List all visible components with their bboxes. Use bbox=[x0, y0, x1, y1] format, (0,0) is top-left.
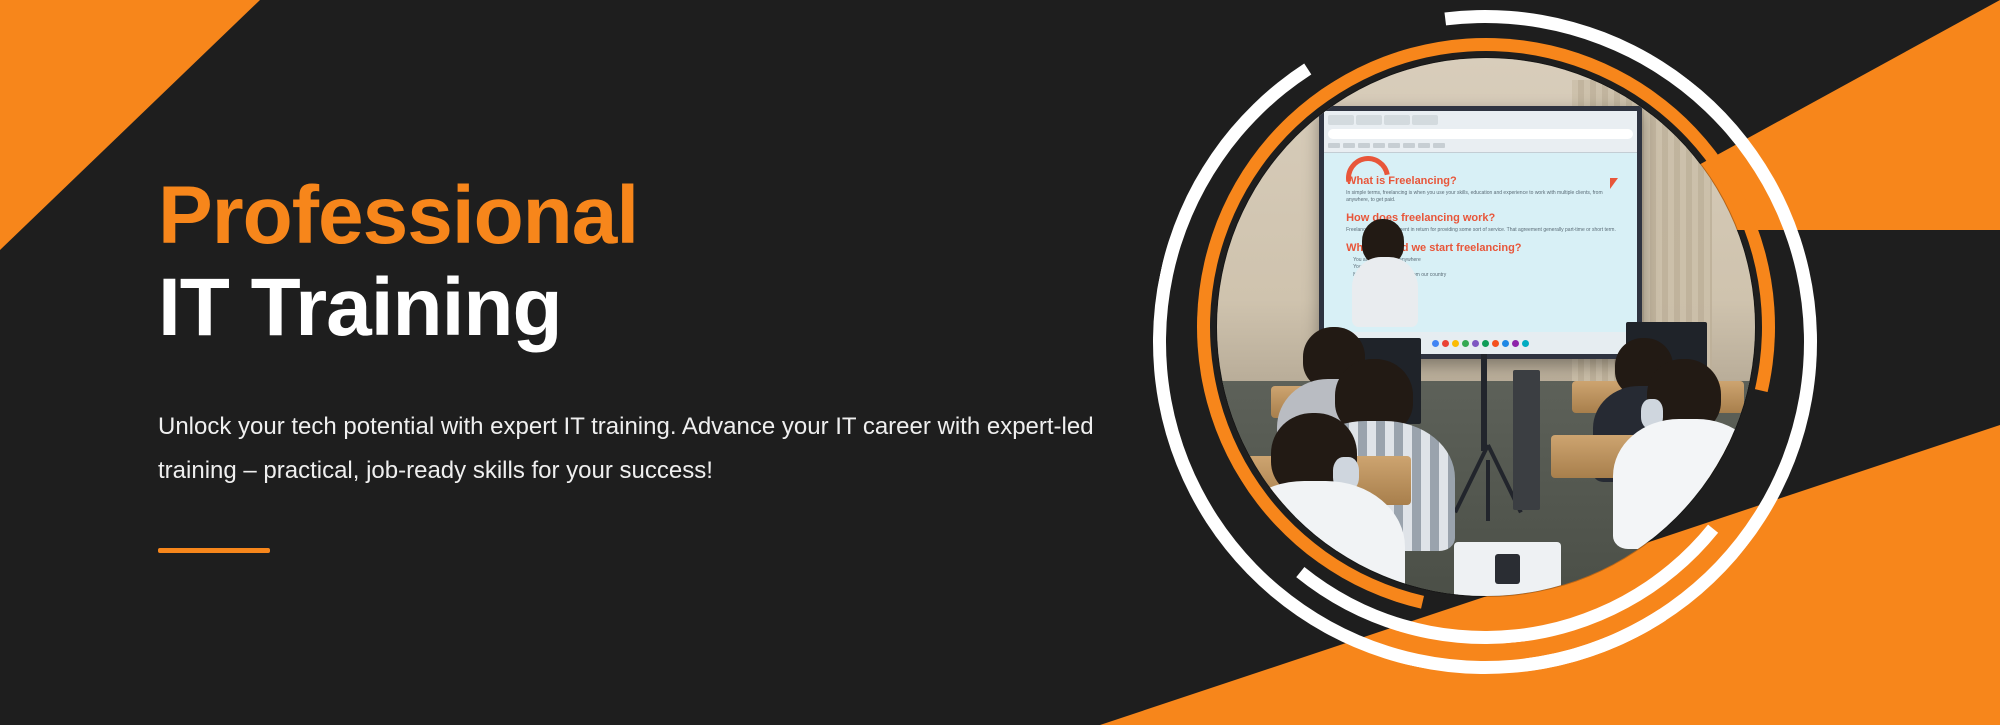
browser-tab bbox=[1328, 115, 1354, 125]
person-body bbox=[1352, 257, 1418, 327]
taskbar-app-icon bbox=[1522, 340, 1529, 347]
bookmark-icon bbox=[1418, 143, 1430, 148]
browser-chrome bbox=[1324, 111, 1637, 152]
taskbar-app-icon bbox=[1502, 340, 1509, 347]
headline-line-2: IT Training bbox=[158, 267, 1158, 349]
bookmark-icon bbox=[1328, 143, 1340, 148]
classroom-photo: What is Freelancing? In simple terms, fr… bbox=[1217, 58, 1755, 596]
it-training-hero-banner: Professional IT Training Unlock your tec… bbox=[0, 0, 2000, 725]
browser-tabs bbox=[1328, 113, 1633, 127]
bookmark-icon bbox=[1373, 143, 1385, 148]
bookmark-icon bbox=[1388, 143, 1400, 148]
taskbar-app-icon bbox=[1462, 340, 1469, 347]
browser-tab bbox=[1384, 115, 1410, 125]
classroom-scene: What is Freelancing? In simple terms, fr… bbox=[1217, 58, 1755, 596]
taskbar-app-icon bbox=[1452, 340, 1459, 347]
slide-body-1: In simple terms, freelancing is when you… bbox=[1346, 190, 1618, 206]
projector-stand-pole bbox=[1481, 354, 1487, 451]
taskbar-app-icon bbox=[1482, 340, 1489, 347]
taskbar-app-icon bbox=[1432, 340, 1439, 347]
taskbar-app-icon bbox=[1492, 340, 1499, 347]
page-title: Professional IT Training bbox=[158, 175, 1158, 349]
bookmark-icon bbox=[1358, 143, 1370, 148]
person-body bbox=[1613, 419, 1755, 549]
taskbar-app-icon bbox=[1472, 340, 1479, 347]
taskbar-app-icon bbox=[1442, 340, 1449, 347]
stand-leg bbox=[1486, 460, 1490, 520]
browser-tab bbox=[1412, 115, 1438, 125]
person-body bbox=[1225, 481, 1405, 596]
slide-corner-mark-icon bbox=[1610, 178, 1618, 189]
hero-copy-block: Professional IT Training Unlock your tec… bbox=[158, 175, 1158, 553]
bookmark-icon bbox=[1433, 143, 1445, 148]
hero-media-composition: What is Freelancing? In simple terms, fr… bbox=[1125, 18, 1825, 718]
bookmark-icon bbox=[1343, 143, 1355, 148]
hero-subheading: Unlock your tech potential with expert I… bbox=[158, 405, 1118, 494]
headline-line-1: Professional bbox=[158, 175, 1158, 257]
browser-tab bbox=[1356, 115, 1382, 125]
accent-rule-divider bbox=[158, 548, 270, 553]
taskbar-app-icon bbox=[1512, 340, 1519, 347]
browser-address-bar bbox=[1328, 129, 1633, 139]
stand-leg bbox=[1453, 444, 1490, 513]
desktop-tower bbox=[1513, 370, 1540, 510]
browser-bookmarks-bar bbox=[1328, 141, 1633, 150]
bookmark-icon bbox=[1403, 143, 1415, 148]
printer bbox=[1454, 542, 1562, 596]
